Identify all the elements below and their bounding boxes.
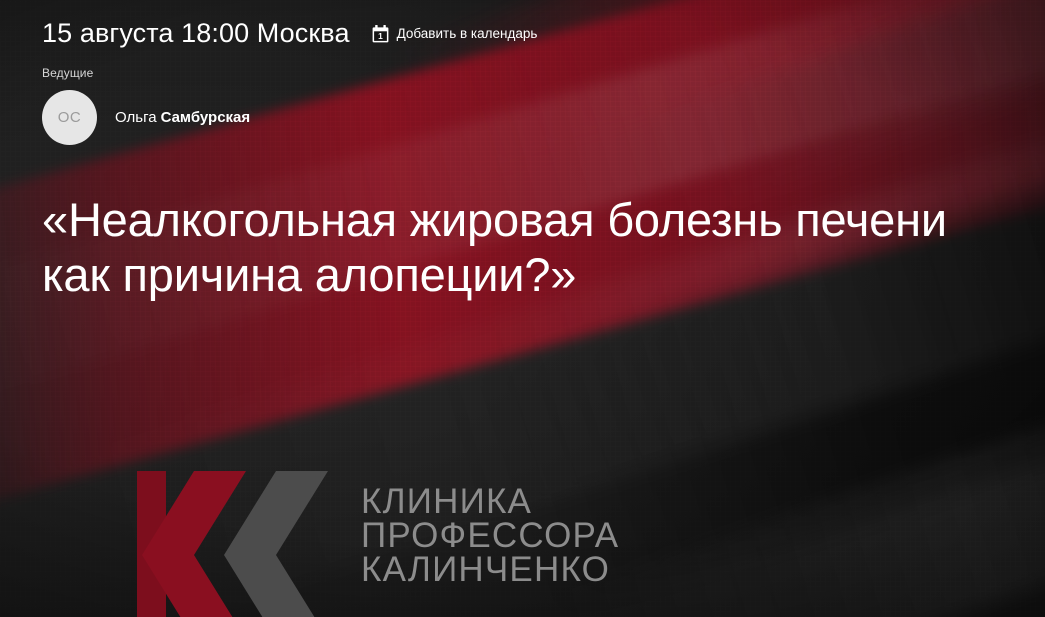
page-title: «Неалкогольная жировая болезнь печени ка… [42,193,982,302]
webinar-banner: 15 августа 18:00 Москва 1 Добавить в кал… [0,0,1045,617]
clinic-logo-line-1: КЛИНИКА [361,485,619,519]
host-last-name: Самбурская [161,109,251,126]
kalinchenko-k-mark-icon [137,471,345,617]
calendar-icon: 1 [372,25,389,43]
add-to-calendar-label: Добавить в календарь [397,26,538,41]
host-list-item[interactable]: ОС ОльгаСамбурская [42,90,1045,145]
add-to-calendar-button[interactable]: 1 Добавить в календарь [372,25,538,43]
clinic-logo-line-2: ПРОФЕССОРА [361,519,619,553]
host-name: ОльгаСамбурская [115,109,250,126]
event-datetime: 15 августа 18:00 Москва [42,18,350,49]
host-first-name: Ольга [115,109,157,126]
avatar: ОС [42,90,97,145]
clinic-logo-line-3: КАЛИНЧЕНКО [361,553,619,587]
avatar-initials: ОС [58,109,82,126]
svg-text:1: 1 [378,31,383,41]
banner-content: 15 августа 18:00 Москва 1 Добавить в кал… [0,0,1045,302]
clinic-logo-text: КЛИНИКА ПРОФЕССОРА КАЛИНЧЕНКО [361,485,619,587]
hosts-section-label: Ведущие [42,66,1045,80]
clinic-logo: КЛИНИКА ПРОФЕССОРА КАЛИНЧЕНКО [137,471,619,617]
event-meta-row: 15 августа 18:00 Москва 1 Добавить в кал… [42,18,1045,49]
